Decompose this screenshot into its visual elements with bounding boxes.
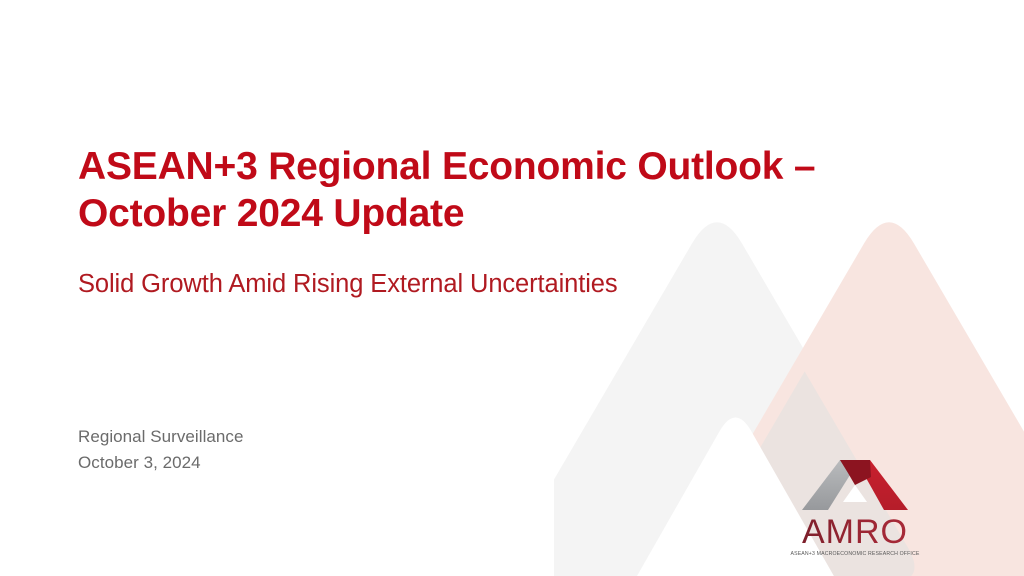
slide-subtitle: Solid Growth Amid Rising External Uncert…	[78, 268, 778, 300]
amro-wordmark: AMRO	[802, 513, 908, 551]
byline-date: October 3, 2024	[78, 450, 498, 476]
byline: Regional Surveillance October 3, 2024	[78, 424, 498, 476]
amro-a-mark	[802, 460, 908, 510]
slide-title: ASEAN+3 Regional Economic Outlook – Octo…	[78, 143, 893, 237]
byline-department: Regional Surveillance	[78, 424, 498, 450]
amro-logo: AMRO ASEAN+3 MACROECONOMIC RESEARCH OFFI…	[772, 455, 938, 560]
presentation-slide: ASEAN+3 Regional Economic Outlook – Octo…	[0, 0, 1024, 576]
amro-tagline: ASEAN+3 MACROECONOMIC RESEARCH OFFICE	[790, 551, 919, 557]
